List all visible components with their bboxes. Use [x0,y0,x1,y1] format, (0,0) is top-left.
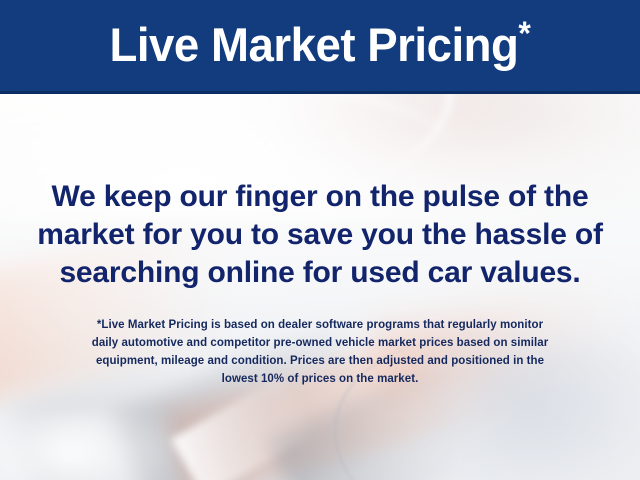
page-title: Live Market Pricing* [110,21,531,71]
page-title-asterisk: * [518,14,530,51]
headline-line-3: searching online for used car values. [24,254,616,292]
headline-block: We keep our finger on the pulse of the m… [0,178,640,292]
header-band: Live Market Pricing* [0,0,640,94]
disclaimer-line-2: daily automotive and competitor pre-owne… [26,334,614,352]
disclaimer-block: *Live Market Pricing is based on dealer … [0,316,640,388]
disclaimer-line-4: lowest 10% of prices on the market. [26,370,614,388]
headline-line-1: We keep our finger on the pulse of the [24,178,616,216]
disclaimer-line-3: equipment, mileage and condition. Prices… [26,352,614,370]
disclaimer-line-1: *Live Market Pricing is based on dealer … [26,316,614,334]
page-title-text: Live Market Pricing [110,18,519,71]
live-market-pricing-banner: Live Market Pricing* We keep our finger … [0,0,640,480]
content-area: We keep our finger on the pulse of the m… [0,94,640,480]
headline-line-2: market for you to save you the hassle of [24,216,616,254]
